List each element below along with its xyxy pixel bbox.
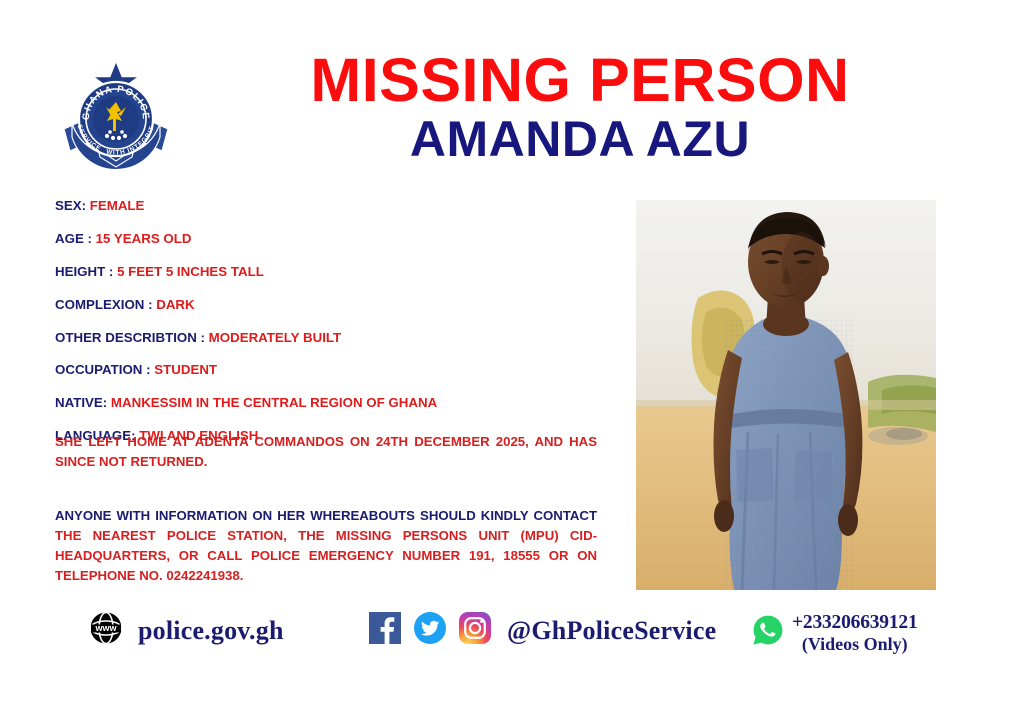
www-globe-icon: www (88, 610, 124, 651)
detail-label: OCCUPATION : (55, 362, 151, 377)
detail-value: FEMALE (90, 198, 145, 213)
instagram-icon[interactable] (459, 612, 491, 649)
detail-label: HEIGHT : (55, 264, 113, 279)
social-handle: @GhPoliceService (507, 616, 716, 646)
contact-body-text: THE NEAREST POLICE STATION, THE MISSING … (55, 528, 597, 583)
website-group[interactable]: www police.gov.gh (88, 610, 284, 651)
person-details-list: SEX: FEMALE AGE : 15 YEARS OLD HEIGHT : … (55, 199, 615, 462)
missing-person-poster: GHANA POLICE SERVICE WITH INTEGRITY (0, 0, 1024, 724)
detail-value: DARK (156, 297, 194, 312)
whatsapp-note: (Videos Only) (792, 634, 918, 654)
twitter-icon[interactable] (414, 612, 446, 649)
detail-value: 15 YEARS OLD (96, 231, 192, 246)
whatsapp-number: +233206639121 (792, 612, 918, 634)
detail-label: SEX: (55, 198, 86, 213)
poster-title-block: MISSING PERSON AMANDA AZU (200, 50, 960, 167)
detail-label: NATIVE: (55, 395, 107, 410)
contact-lead-text: ANYONE WITH INFORMATION ON HER WHEREABOU… (55, 508, 597, 523)
detail-value: 5 FEET 5 INCHES TALL (117, 264, 264, 279)
facebook-icon[interactable] (369, 612, 401, 649)
missing-person-photo (636, 200, 936, 590)
website-label: police.gov.gh (138, 616, 284, 646)
poster-header: GHANA POLICE SERVICE WITH INTEGRITY (0, 0, 1024, 185)
person-name: AMANDA AZU (200, 111, 960, 167)
page-title: MISSING PERSON (200, 50, 960, 111)
detail-value: STUDENT (154, 362, 217, 377)
detail-value: MODERATELY BUILT (209, 330, 341, 345)
svg-text:WITH: WITH (106, 148, 127, 156)
detail-label: OTHER DESCRIBTION : (55, 330, 205, 345)
detail-row: AGE : 15 YEARS OLD (55, 232, 615, 245)
detail-label: AGE : (55, 231, 92, 246)
departure-statement: SHE LEFT HOME AT ADENTA COMMANDOS ON 24T… (55, 432, 597, 472)
social-group: @GhPoliceService (369, 612, 716, 649)
ghana-police-badge-icon: GHANA POLICE SERVICE WITH INTEGRITY (62, 57, 170, 169)
contact-instructions: ANYONE WITH INFORMATION ON HER WHEREABOU… (55, 506, 597, 586)
whatsapp-text-block: +233206639121 (Videos Only) (792, 612, 918, 654)
detail-row: NATIVE: MANKESSIM IN THE CENTRAL REGION … (55, 396, 615, 409)
svg-text:www: www (94, 623, 117, 633)
poster-footer: www police.gov.gh (0, 600, 1024, 670)
detail-row: HEIGHT : 5 FEET 5 INCHES TALL (55, 265, 615, 278)
detail-row: OCCUPATION : STUDENT (55, 363, 615, 376)
detail-row: OTHER DESCRIBTION : MODERATELY BUILT (55, 331, 615, 344)
detail-row: COMPLEXION : DARK (55, 298, 615, 311)
detail-row: SEX: FEMALE (55, 199, 615, 212)
detail-label: COMPLEXION : (55, 297, 153, 312)
whatsapp-group[interactable]: +233206639121 (Videos Only) (752, 612, 918, 654)
detail-value: MANKESSIM IN THE CENTRAL REGION OF GHANA (111, 395, 437, 410)
whatsapp-icon[interactable] (752, 614, 784, 651)
